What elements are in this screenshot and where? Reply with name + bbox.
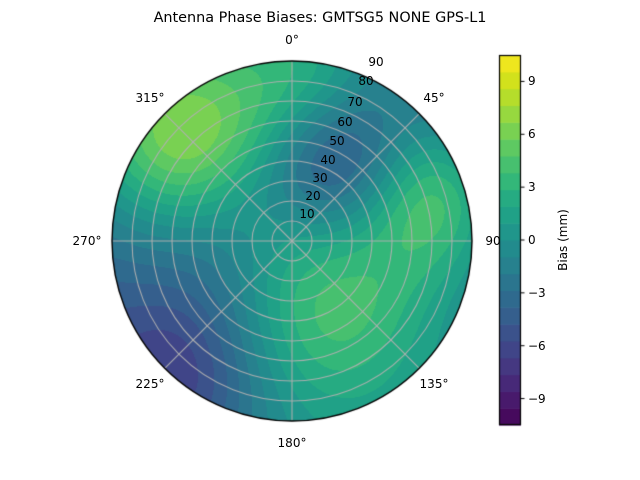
radial-tick-label-2: 70 (347, 96, 362, 108)
radial-tick-label-6: 30 (312, 172, 327, 184)
radial-tick-label-5: 40 (320, 154, 335, 166)
page-title: Antenna Phase Biases: GMTSG5 NONE GPS-L1 (0, 11, 640, 25)
radial-tick-label-3: 60 (337, 116, 352, 128)
angular-tick-label-5: 225° (136, 378, 165, 390)
angular-tick-label-7: 315° (136, 92, 165, 104)
colorbar-tick-label-4: −3 (528, 287, 546, 299)
angular-tick-label-2: 90 (485, 235, 500, 247)
colorbar-tick-label-1: 6 (528, 128, 536, 140)
radial-tick-label-0: 90 (368, 56, 383, 68)
radial-tick-label-8: 10 (299, 208, 314, 220)
colorbar-tick-label-0: 9 (528, 75, 536, 87)
colorbar-tick-label-2: 3 (528, 181, 536, 193)
angular-tick-label-4: 180° (278, 437, 307, 449)
angular-tick-label-3: 135° (420, 378, 449, 390)
colorbar-axis-label: Bias (mm) (557, 209, 569, 271)
colorbar-tick-label-6: −9 (528, 393, 546, 405)
figure-canvas-area: Antenna Phase Biases: GMTSG5 NONE GPS-L1… (0, 0, 640, 480)
angular-tick-label-1: 45° (423, 92, 444, 104)
angular-tick-label-6: 270° (73, 235, 102, 247)
colorbar-tick-label-3: 0 (528, 234, 536, 246)
angular-tick-label-0: 0° (285, 34, 299, 46)
colorbar-tick-label-5: −6 (528, 340, 546, 352)
radial-tick-label-4: 50 (329, 135, 344, 147)
radial-tick-label-7: 20 (305, 190, 320, 202)
radial-tick-label-1: 80 (358, 75, 373, 87)
